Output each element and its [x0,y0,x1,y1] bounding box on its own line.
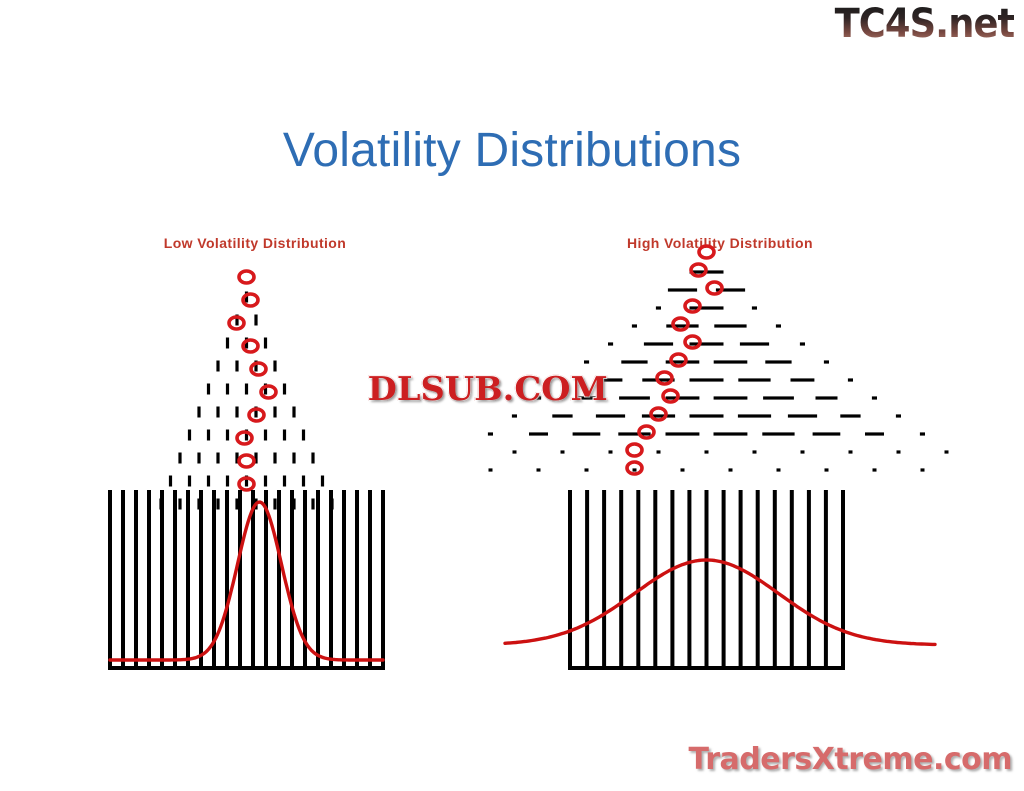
peg-mark [825,468,829,471]
price-bar [329,490,333,666]
peg-mark [762,432,794,435]
peg-mark [621,360,647,363]
peg-mark [609,450,613,453]
price-bar [687,490,691,666]
price-bar [199,490,203,666]
price-bar [773,490,777,666]
peg-mark [302,430,305,441]
peg-mark [840,414,860,417]
peg-mark [666,432,700,435]
peg-mark [738,414,771,417]
peg-mark [752,306,757,309]
ball-marker [691,264,706,276]
peg-mark [897,450,901,453]
slide-canvas: TC4S.net Volatility Distributions Low Vo… [0,0,1024,791]
peg-mark [216,407,219,418]
price-bar [585,490,589,666]
price-bar [739,490,743,666]
price-bar [134,490,138,666]
peg-mark [714,360,748,363]
price-bar [290,490,294,666]
tc4s-brand-logo: TC4S.net [834,4,1014,44]
peg-mark [537,468,541,471]
peg-mark [705,450,709,453]
peg-mark [207,476,210,487]
peg-mark [302,476,305,487]
peg-mark [169,476,172,487]
peg-mark [311,499,314,510]
peg-mark [619,396,650,399]
peg-mark [865,432,884,435]
price-bar [722,490,726,666]
ball-marker [673,318,688,330]
price-bar [368,490,372,666]
peg-mark [945,450,949,453]
ball-marker [707,282,722,294]
peg-mark [824,360,829,363]
peg-mark [264,476,267,487]
ball-marker [671,354,686,366]
peg-mark [690,342,724,345]
peg-mark [264,430,267,441]
ball-marker [239,455,254,467]
peg-mark [235,407,238,418]
peg-mark [585,468,589,471]
peg-mark [800,342,805,345]
peg-mark [813,432,841,435]
ball-marker [663,390,678,402]
peg-mark [188,430,191,441]
peg-mark [245,384,248,395]
tradersxtreme-watermark: TradersXtreme.com [689,742,1012,777]
ball-marker [685,300,700,312]
peg-mark [235,361,238,372]
peg-mark [666,396,700,399]
peg-mark [618,432,650,435]
ball-marker [685,336,700,348]
peg-mark [777,468,781,471]
price-bar [277,490,281,666]
peg-mark [488,432,493,435]
peg-mark [197,453,200,464]
peg-mark [292,407,295,418]
peg-mark [714,324,746,327]
high-volatility-panel: High Volatility Distribution [480,235,960,685]
peg-mark [608,342,613,345]
peg-mark [216,361,219,372]
peg-mark [668,288,697,291]
peg-mark [690,378,724,381]
peg-mark [216,453,219,464]
ball-marker [699,246,714,258]
peg-mark [596,414,625,417]
peg-mark [254,315,257,326]
peg-mark [872,396,877,399]
peg-mark [763,396,794,399]
ball-marker [639,426,654,438]
peg-mark [226,384,229,395]
peg-mark [178,499,181,510]
peg-mark [776,324,781,327]
peg-mark [489,468,493,471]
peg-mark [681,468,685,471]
peg-mark [197,407,200,418]
peg-mark [656,306,661,309]
peg-mark [207,384,210,395]
peg-mark [178,453,181,464]
peg-mark [666,324,698,327]
peg-mark [529,432,548,435]
peg-mark [226,338,229,349]
peg-mark [264,338,267,349]
peg-mark [552,414,572,417]
price-bars [568,490,845,670]
peg-mark [573,432,601,435]
price-bar [238,490,242,666]
marker-path [627,246,722,474]
peg-mark [633,468,637,471]
peg-mark [632,324,637,327]
price-bar [807,490,811,666]
low-volatility-chart [95,235,415,685]
price-bar [636,490,640,666]
peg-mark [788,414,817,417]
price-bar [108,490,112,666]
peg-mark [584,360,589,363]
ball-marker [627,444,642,456]
peg-mark [273,453,276,464]
peg-mark [226,430,229,441]
price-bar [568,490,572,666]
peg-mark [311,453,314,464]
peg-mark [292,453,295,464]
peg-mark [849,450,853,453]
peg-mark [207,430,210,441]
ball-marker [627,462,642,474]
page-title: Volatility Distributions [0,123,1024,178]
peg-mark [644,342,673,345]
price-bar [173,490,177,666]
price-bar [619,490,623,666]
peg-mark [729,468,733,471]
peg-mark [714,432,748,435]
price-bars [108,490,385,670]
peg-mark [873,468,877,471]
ball-marker [657,372,672,384]
peg-mark [321,476,324,487]
baseline [568,666,845,670]
price-bar [381,490,385,666]
peg-mark [273,499,276,510]
peg-mark [896,414,901,417]
price-bar [186,490,190,666]
peg-mark [690,306,724,309]
baseline [108,666,385,670]
ball-marker [237,432,252,444]
peg-mark [753,450,757,453]
peg-mark [848,378,853,381]
peg-mark [920,432,925,435]
peg-mark [226,476,229,487]
chart-group [108,271,385,670]
ball-marker [239,271,254,283]
peg-mark [273,407,276,418]
ball-marker [261,386,276,398]
price-bar [147,490,151,666]
peg-mark [657,450,661,453]
high-volatility-chart [480,235,960,685]
peg-mark [642,414,675,417]
peg-mark [512,414,517,417]
price-bar [225,490,229,666]
peg-mark [188,476,191,487]
price-bar [705,490,709,666]
peg-mark [801,450,805,453]
price-bar [160,490,164,666]
peg-mark [283,430,286,441]
peg-mark [765,360,791,363]
peg-mark [921,468,925,471]
price-bar [670,490,674,666]
price-bar [342,490,346,666]
price-bar [121,490,125,666]
price-bar [841,490,845,666]
peg-mark [791,378,815,381]
peg-mark [283,476,286,487]
peg-mark [738,378,770,381]
peg-mark [561,450,565,453]
peg-mark [273,361,276,372]
peg-mark [283,384,286,395]
dlsub-watermark-text: DLSUB.COM [368,369,608,408]
chart-group [480,246,960,670]
ball-marker [251,363,266,375]
peg-mark [740,342,769,345]
price-bar [355,490,359,666]
low-volatility-panel: Low Volatility Distribution [95,235,415,685]
peg-mark [216,499,219,510]
peg-mark [816,396,838,399]
price-bar [602,490,606,666]
peg-mark [690,414,724,417]
price-bar [824,490,828,666]
price-bar [790,490,794,666]
peg-mark [513,450,517,453]
dlsub-watermark: DLSUB.COM [368,369,608,408]
price-bar [316,490,320,666]
ball-marker [651,408,666,420]
peg-mark [714,396,748,399]
